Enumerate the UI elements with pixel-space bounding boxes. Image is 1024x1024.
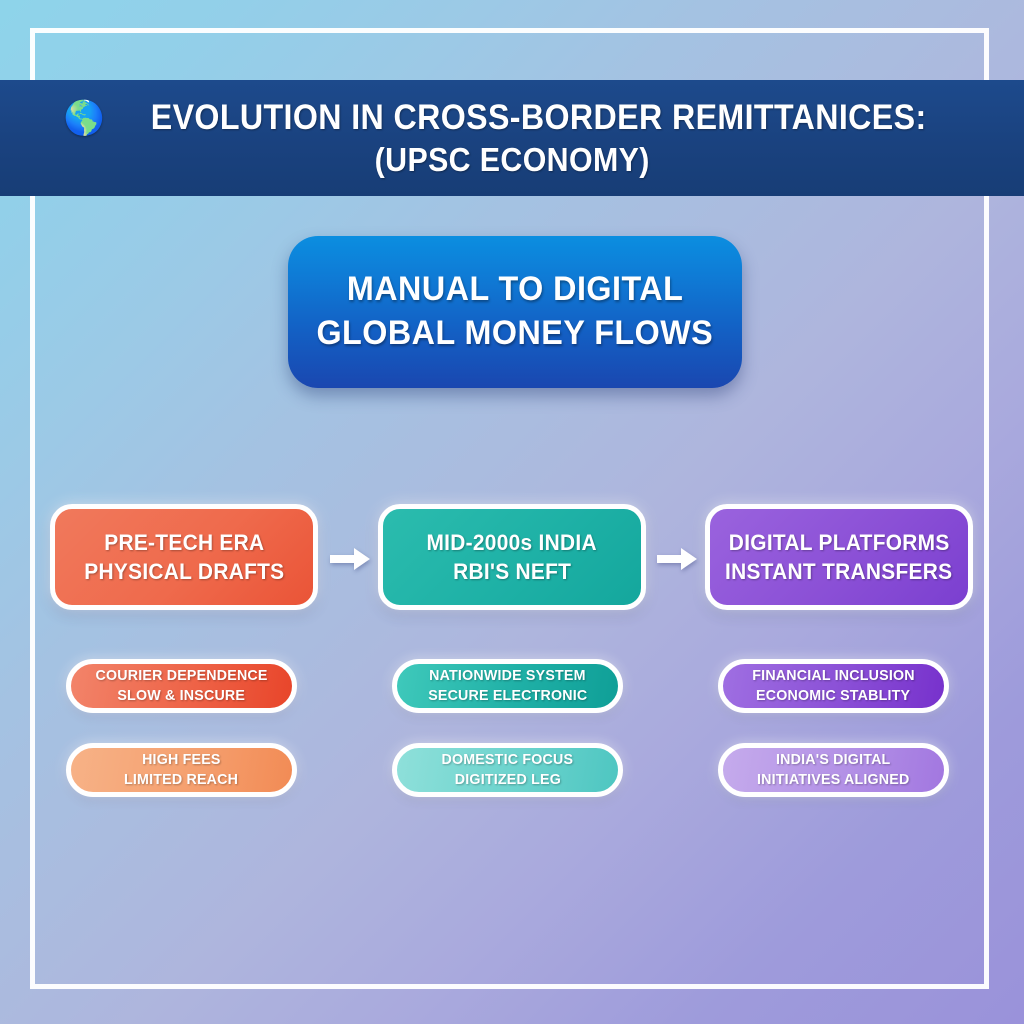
stage-row: PRE-TECH ERA PHYSICAL DRAFTS MID-2000s I… <box>50 504 972 610</box>
stage-title-line-1: PRE-TECH ERA <box>104 528 264 557</box>
detail-line-2: ECONOMIC STABLITY <box>756 686 910 706</box>
detail-line-1: COURIER DEPENDENCE <box>95 666 267 686</box>
stage-title-line-2: INSTANT TRANSFERS <box>725 557 952 586</box>
detail-line-2: SECURE ELECTRONIC <box>428 686 587 706</box>
detail-line-2: INITIATIVES ALIGNED <box>757 770 909 790</box>
detail-pill-mid2000s-1[interactable]: NATIONWIDE SYSTEM SECURE ELECTRONIC <box>392 659 623 713</box>
detail-line-2: LIMITED REACH <box>124 770 238 790</box>
page-subtitle: (UPSC ECONOMY) <box>100 143 925 177</box>
stage-title-line-2: RBI'S NEFT <box>453 557 571 586</box>
header-band: 🌎 EVOLUTION IN CROSS-BORDER REMITTANICES… <box>0 80 1024 196</box>
stage-title-line-1: MID-2000s INDIA <box>427 528 597 557</box>
arrow-right-icon <box>655 546 699 572</box>
globe-icon: 🌎 <box>64 101 105 134</box>
detail-line-2: DIGITIZED LEG <box>454 770 560 790</box>
stage-title-line-2: PHYSICAL DRAFTS <box>84 557 284 586</box>
page-title: EVOLUTION IN CROSS-BORDER REMITTANICES: <box>151 100 927 136</box>
infographic-canvas: 🌎 EVOLUTION IN CROSS-BORDER REMITTANICES… <box>0 0 1024 1024</box>
detail-line-1: NATIONWIDE SYSTEM <box>429 666 586 686</box>
detail-line-1: DOMESTIC FOCUS <box>442 750 574 770</box>
detail-line-1: INDIA'S DIGITAL <box>776 750 890 770</box>
detail-line-2: SLOW & INSCURE <box>118 686 246 706</box>
header-content: 🌎 EVOLUTION IN CROSS-BORDER REMITTANICES… <box>24 100 1000 176</box>
detail-pill-pre-tech-2[interactable]: HIGH FEES LIMITED REACH <box>66 743 297 797</box>
detail-pill-mid2000s-2[interactable]: DOMESTIC FOCUS DIGITIZED LEG <box>392 743 623 797</box>
stage-title-line-1: DIGITAL PLATFORMS <box>729 528 950 557</box>
header-title-row: 🌎 EVOLUTION IN CROSS-BORDER REMITTANICES… <box>64 100 960 136</box>
hero-banner: MANUAL TO DIGITAL GLOBAL MONEY FLOWS <box>288 236 742 388</box>
stage-card-digital-platforms[interactable]: DIGITAL PLATFORMS INSTANT TRANSFERS <box>705 504 973 610</box>
detail-pill-pre-tech-1[interactable]: COURIER DEPENDENCE SLOW & INSCURE <box>66 659 297 713</box>
detail-pill-digital-1[interactable]: FINANCIAL INCLUSION ECONOMIC STABLITY <box>718 659 949 713</box>
detail-line-1: HIGH FEES <box>142 750 221 770</box>
detail-pill-digital-2[interactable]: INDIA'S DIGITAL INITIATIVES ALIGNED <box>718 743 949 797</box>
arrow-right-icon <box>328 546 372 572</box>
stage-card-mid-2000s-india[interactable]: MID-2000s INDIA RBI'S NEFT <box>378 504 646 610</box>
hero-line-2: GLOBAL MONEY FLOWS <box>317 312 714 356</box>
stage-card-pre-tech-era[interactable]: PRE-TECH ERA PHYSICAL DRAFTS <box>50 504 318 610</box>
hero-line-1: MANUAL TO DIGITAL <box>347 268 683 312</box>
detail-line-1: FINANCIAL INCLUSION <box>752 666 914 686</box>
